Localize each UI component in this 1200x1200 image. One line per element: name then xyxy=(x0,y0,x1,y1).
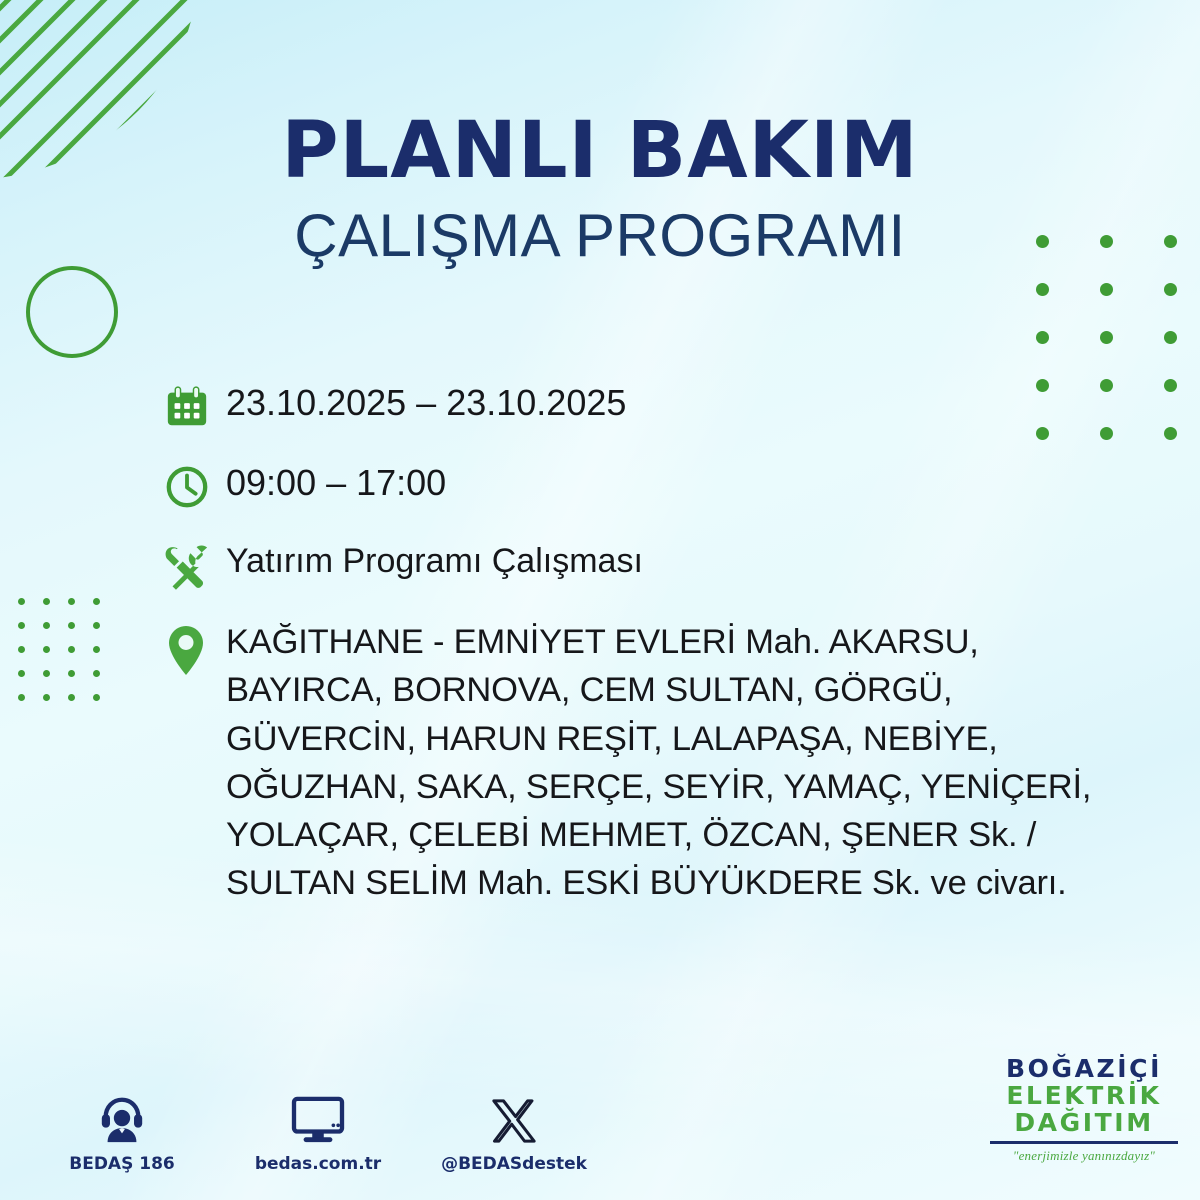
poster-heading: PLANLI BAKIM ÇALIŞMA PROGRAMI xyxy=(0,112,1200,266)
monitor-icon xyxy=(291,1086,345,1144)
dot xyxy=(1164,379,1177,392)
dot xyxy=(93,646,100,653)
address-line: OĞUZHAN, SAKA, SERÇE, SEYİR, YAMAÇ, YENİ… xyxy=(226,763,1091,811)
dot xyxy=(18,622,25,629)
dot xyxy=(18,598,25,605)
dot xyxy=(93,694,100,701)
dot xyxy=(68,694,75,701)
maintenance-work-type: Yatırım Programı Çalışması xyxy=(226,538,643,580)
address-line: BAYIRCA, BORNOVA, CEM SULTAN, GÖRGÜ, xyxy=(226,666,1091,714)
calendar-icon xyxy=(164,378,226,436)
maintenance-time-range: 09:00 – 17:00 xyxy=(226,458,446,502)
address-line: SULTAN SELİM Mah. ESKİ BÜYÜKDERE Sk. ve … xyxy=(226,859,1091,907)
dot xyxy=(68,670,75,677)
clock-icon xyxy=(164,458,226,516)
maintenance-date-range: 23.10.2025 – 23.10.2025 xyxy=(226,378,626,422)
tools-icon xyxy=(164,538,226,596)
logo-line-dagitim: DAĞITIM xyxy=(986,1109,1182,1136)
dot xyxy=(68,646,75,653)
contact-label: @BEDASdestek xyxy=(441,1154,587,1174)
address-line: YOLAÇAR, ÇELEBİ MEHMET, ÖZCAN, ŞENER Sk.… xyxy=(226,811,1091,859)
detail-row-work-type: Yatırım Programı Çalışması xyxy=(164,538,1164,596)
logo-line-bogazici: BOĞAZİÇİ xyxy=(986,1055,1182,1082)
dot xyxy=(68,622,75,629)
dot xyxy=(43,622,50,629)
dot xyxy=(93,670,100,677)
planned-maintenance-poster: PLANLI BAKIM ÇALIŞMA PROGRAMI xyxy=(0,0,1200,1200)
dot xyxy=(43,694,50,701)
x-twitter-icon xyxy=(491,1086,537,1144)
maintenance-details: 23.10.2025 – 23.10.2025 09:00 – 17:00 xyxy=(164,378,1164,930)
dot xyxy=(18,646,25,653)
detail-row-date: 23.10.2025 – 23.10.2025 xyxy=(164,378,1164,436)
dot xyxy=(18,694,25,701)
bedas-logo: BOĞAZİÇİ ELEKTRİK DAĞITIM "enerjimizle y… xyxy=(986,1055,1182,1164)
dot xyxy=(1164,283,1177,296)
address-line: GÜVERCİN, HARUN REŞİT, LALAPAŞA, NEBİYE, xyxy=(226,715,1091,763)
contact-label: BEDAŞ 186 xyxy=(69,1154,175,1174)
dot-grid-left-decoration xyxy=(18,598,118,718)
circle-decoration xyxy=(26,266,118,358)
detail-row-location: KAĞITHANE - EMNİYET EVLERİ Mah. AKARSU, … xyxy=(164,618,1164,908)
logo-line-elektrik: ELEKTRİK xyxy=(986,1082,1182,1109)
detail-row-time: 09:00 – 17:00 xyxy=(164,458,1164,516)
contact-label: bedas.com.tr xyxy=(255,1154,381,1174)
dot xyxy=(1100,331,1113,344)
dot xyxy=(1036,331,1049,344)
dot xyxy=(1164,331,1177,344)
dot xyxy=(43,598,50,605)
dot xyxy=(93,598,100,605)
contact-x-account[interactable]: @BEDASdestek xyxy=(444,1086,584,1174)
dot xyxy=(43,646,50,653)
page-title: PLANLI BAKIM xyxy=(0,112,1200,190)
logo-divider xyxy=(990,1141,1178,1144)
page-subtitle: ÇALIŞMA PROGRAMI xyxy=(0,206,1200,266)
contact-call-center[interactable]: BEDAŞ 186 xyxy=(52,1086,192,1174)
map-pin-icon xyxy=(164,618,226,678)
dot xyxy=(43,670,50,677)
dot xyxy=(93,622,100,629)
dot xyxy=(1036,283,1049,296)
logo-tagline: "enerjimizle yanınızdayız" xyxy=(986,1148,1182,1164)
dot xyxy=(18,670,25,677)
dot xyxy=(1100,283,1113,296)
address-line: KAĞITHANE - EMNİYET EVLERİ Mah. AKARSU, xyxy=(226,618,1091,666)
headset-support-icon xyxy=(97,1086,147,1144)
contact-channels: BEDAŞ 186 bedas.com.tr xyxy=(52,1086,584,1174)
poster-footer: BEDAŞ 186 bedas.com.tr xyxy=(0,1042,1200,1182)
dot xyxy=(1164,427,1177,440)
maintenance-location-text: KAĞITHANE - EMNİYET EVLERİ Mah. AKARSU, … xyxy=(226,618,1091,908)
contact-website[interactable]: bedas.com.tr xyxy=(248,1086,388,1174)
dot xyxy=(68,598,75,605)
